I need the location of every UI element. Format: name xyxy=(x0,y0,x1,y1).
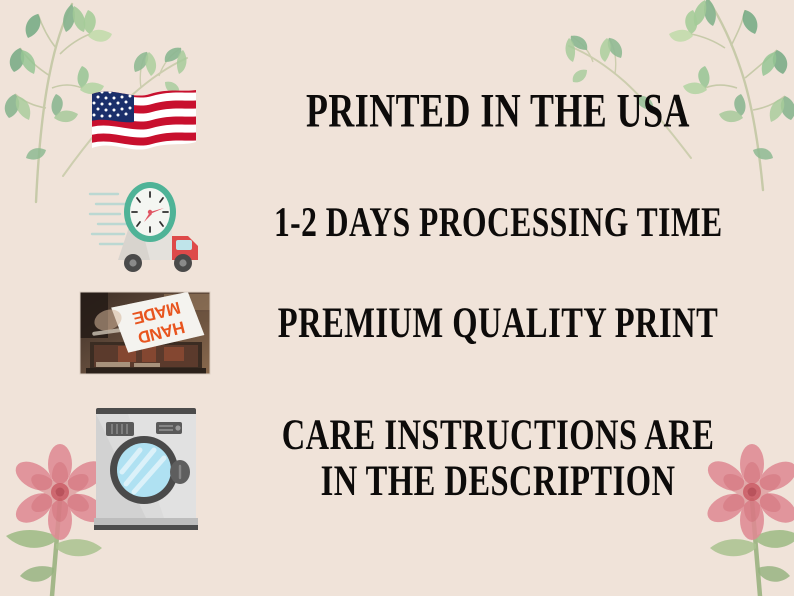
feature-text-care-instructions: CARE INSTRUCTIONS ARE IN THE DESCRIPTION xyxy=(213,418,783,499)
us-flag-icon xyxy=(88,84,200,160)
infographic-canvas: HAND MADE xyxy=(0,0,794,596)
feature-text-processing-time: 1-2 DAYS PROCESSING TIME xyxy=(213,206,783,240)
washing-machine-icon xyxy=(88,402,204,534)
feature-line: 1-2 DAYS PROCESSING TIME xyxy=(274,201,723,246)
feature-line: CARE INSTRUCTIONS ARE xyxy=(282,413,715,459)
feature-text-premium-quality: PREMIUM QUALITY PRINT xyxy=(213,306,783,342)
feature-line: IN THE DESCRIPTION xyxy=(222,458,775,504)
feature-text-printed-in-usa: PRINTED IN THE USA xyxy=(213,92,783,131)
screen-printing-photo-icon: HAND MADE xyxy=(78,290,212,376)
fast-delivery-clock-truck-icon xyxy=(88,178,210,284)
feature-line: PREMIUM QUALITY PRINT xyxy=(278,301,718,347)
feature-line: PRINTED IN THE USA xyxy=(306,86,690,137)
